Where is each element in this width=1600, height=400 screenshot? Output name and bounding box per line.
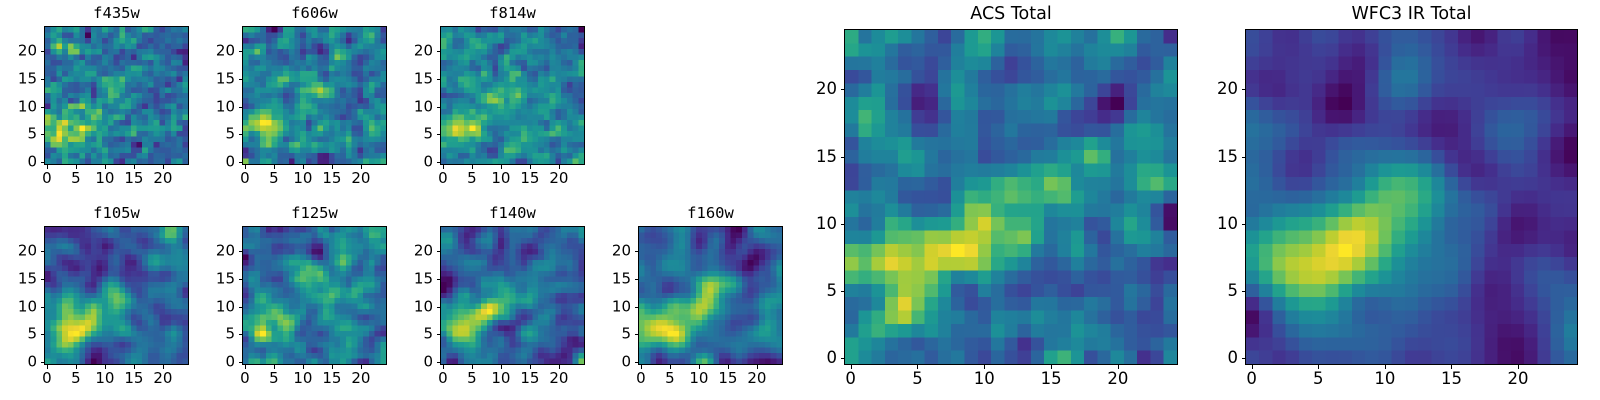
ytick-f435w-3 <box>41 79 45 80</box>
xticklabel-f140w-3: 15 <box>520 371 539 386</box>
xtick-f125w-4 <box>361 365 362 369</box>
yticklabel-f435w-3: 15 <box>18 71 37 86</box>
panel-f435w: f435w0510152005101520 <box>44 26 189 165</box>
xticklabel-f125w-3: 15 <box>322 371 341 386</box>
ytick-f140w-3 <box>437 279 441 280</box>
ytick-f140w-2 <box>437 307 441 308</box>
ytick-f814w-3 <box>437 79 441 80</box>
yticklabel-f125w-0: 0 <box>225 355 235 370</box>
yticklabel-f606w-1: 5 <box>225 127 235 142</box>
xtick-f140w-0 <box>443 365 444 369</box>
panel-title-f140w: f140w <box>440 206 585 222</box>
xticklabel-wfc3-ir-total-2: 10 <box>1374 371 1395 388</box>
yticklabel-f435w-1: 5 <box>27 127 37 142</box>
xticklabel-f140w-4: 20 <box>549 371 568 386</box>
xtick-acs-total-1 <box>917 365 918 369</box>
yticklabel-f814w-0: 0 <box>423 155 433 170</box>
xtick-f160w-0 <box>641 365 642 369</box>
axes-frame-wfc3-ir-total <box>1245 29 1578 365</box>
ytick-wfc3-ir-total-2 <box>1242 224 1246 225</box>
yticklabel-f140w-2: 10 <box>414 299 433 314</box>
yticklabel-f160w-4: 20 <box>612 244 631 259</box>
xtick-f160w-3 <box>728 365 729 369</box>
xticklabel-f435w-4: 20 <box>153 171 172 186</box>
xticklabel-f140w-1: 5 <box>467 371 477 386</box>
yticklabel-f814w-4: 20 <box>414 44 433 59</box>
xticklabel-f160w-3: 15 <box>718 371 737 386</box>
heatmap-image-wfc3-ir-total <box>1246 30 1577 364</box>
ytick-f105w-4 <box>41 251 45 252</box>
ytick-acs-total-4 <box>841 89 845 90</box>
panel-f140w: f140w0510152005101520 <box>440 226 585 365</box>
xtick-f435w-4 <box>163 165 164 169</box>
ytick-wfc3-ir-total-1 <box>1242 291 1246 292</box>
ytick-f435w-0 <box>41 162 45 163</box>
xtick-f160w-2 <box>699 365 700 369</box>
xticklabel-acs-total-4: 20 <box>1107 371 1128 388</box>
yticklabel-f105w-1: 5 <box>27 327 37 342</box>
ytick-f606w-0 <box>239 162 243 163</box>
xticklabel-f140w-2: 10 <box>491 371 510 386</box>
ytick-f160w-0 <box>635 362 639 363</box>
panel-f160w: f160w0510152005101520 <box>638 226 783 365</box>
ytick-f160w-1 <box>635 334 639 335</box>
axes-frame-f606w <box>242 26 387 165</box>
xticklabel-f435w-0: 0 <box>42 171 52 186</box>
xtick-f105w-2 <box>105 365 106 369</box>
ytick-f125w-3 <box>239 279 243 280</box>
yticklabel-f105w-3: 15 <box>18 271 37 286</box>
xticklabel-f160w-1: 5 <box>665 371 675 386</box>
xtick-f606w-1 <box>274 165 275 169</box>
yticklabel-wfc3-ir-total-1: 5 <box>1228 283 1239 300</box>
ytick-f814w-0 <box>437 162 441 163</box>
panel-f105w: f105w0510152005101520 <box>44 226 189 365</box>
figure-canvas: f435w0510152005101520f606w05101520051015… <box>0 0 1600 400</box>
axes-frame-f435w <box>44 26 189 165</box>
ytick-acs-total-2 <box>841 224 845 225</box>
xticklabel-f606w-0: 0 <box>240 171 250 186</box>
yticklabel-acs-total-3: 15 <box>816 148 837 165</box>
yticklabel-f140w-1: 5 <box>423 327 433 342</box>
xtick-f606w-4 <box>361 165 362 169</box>
axes-frame-f105w <box>44 226 189 365</box>
xtick-f105w-1 <box>76 365 77 369</box>
ytick-f125w-2 <box>239 307 243 308</box>
xticklabel-f105w-0: 0 <box>42 371 52 386</box>
yticklabel-acs-total-1: 5 <box>827 283 838 300</box>
yticklabel-f606w-4: 20 <box>216 44 235 59</box>
xticklabel-acs-total-1: 5 <box>912 371 923 388</box>
ytick-acs-total-3 <box>841 157 845 158</box>
yticklabel-acs-total-4: 20 <box>816 81 837 98</box>
xtick-f606w-2 <box>303 165 304 169</box>
yticklabel-f125w-1: 5 <box>225 327 235 342</box>
yticklabel-f140w-3: 15 <box>414 271 433 286</box>
yticklabel-acs-total-2: 10 <box>816 216 837 233</box>
xticklabel-f105w-2: 10 <box>95 371 114 386</box>
xticklabel-f435w-1: 5 <box>71 171 81 186</box>
heatmap-image-f125w <box>243 227 386 364</box>
panel-title-wfc3-ir-total: WFC3 IR Total <box>1245 6 1578 24</box>
xticklabel-f606w-1: 5 <box>269 171 279 186</box>
xticklabel-f160w-2: 10 <box>689 371 708 386</box>
yticklabel-f160w-0: 0 <box>621 355 631 370</box>
ytick-f125w-0 <box>239 362 243 363</box>
yticklabel-f105w-0: 0 <box>27 355 37 370</box>
panel-title-f125w: f125w <box>242 206 387 222</box>
xtick-f140w-4 <box>559 365 560 369</box>
yticklabel-f435w-4: 20 <box>18 44 37 59</box>
yticklabel-wfc3-ir-total-2: 10 <box>1217 216 1238 233</box>
xtick-f435w-3 <box>134 165 135 169</box>
yticklabel-acs-total-0: 0 <box>827 350 838 367</box>
yticklabel-f435w-0: 0 <box>27 155 37 170</box>
xticklabel-f606w-3: 15 <box>322 171 341 186</box>
xticklabel-f125w-4: 20 <box>351 371 370 386</box>
xtick-f105w-3 <box>134 365 135 369</box>
xtick-f140w-3 <box>530 365 531 369</box>
ytick-f606w-4 <box>239 51 243 52</box>
xticklabel-wfc3-ir-total-3: 15 <box>1441 371 1462 388</box>
xtick-wfc3-ir-total-0 <box>1252 365 1253 369</box>
xticklabel-f125w-1: 5 <box>269 371 279 386</box>
xtick-f814w-1 <box>472 165 473 169</box>
ytick-f606w-3 <box>239 79 243 80</box>
ytick-acs-total-0 <box>841 358 845 359</box>
xticklabel-wfc3-ir-total-0: 0 <box>1246 371 1257 388</box>
yticklabel-wfc3-ir-total-4: 20 <box>1217 81 1238 98</box>
xtick-f140w-2 <box>501 365 502 369</box>
xticklabel-acs-total-2: 10 <box>974 371 995 388</box>
xticklabel-f105w-1: 5 <box>71 371 81 386</box>
xtick-f435w-2 <box>105 165 106 169</box>
xtick-f125w-0 <box>245 365 246 369</box>
heatmap-image-f435w <box>45 27 188 164</box>
ytick-f125w-4 <box>239 251 243 252</box>
ytick-f435w-4 <box>41 51 45 52</box>
panel-title-f435w: f435w <box>44 6 189 22</box>
panel-title-acs-total: ACS Total <box>844 6 1178 24</box>
heatmap-image-f606w <box>243 27 386 164</box>
xtick-f105w-4 <box>163 365 164 369</box>
yticklabel-f140w-4: 20 <box>414 244 433 259</box>
xticklabel-acs-total-0: 0 <box>845 371 856 388</box>
xticklabel-f814w-4: 20 <box>549 171 568 186</box>
yticklabel-f606w-2: 10 <box>216 99 235 114</box>
yticklabel-f125w-4: 20 <box>216 244 235 259</box>
xtick-f125w-1 <box>274 365 275 369</box>
ytick-f606w-2 <box>239 107 243 108</box>
panel-f606w: f606w0510152005101520 <box>242 26 387 165</box>
xtick-f435w-0 <box>47 165 48 169</box>
panel-title-f160w: f160w <box>638 206 783 222</box>
yticklabel-f160w-2: 10 <box>612 299 631 314</box>
xticklabel-f435w-3: 15 <box>124 171 143 186</box>
ytick-wfc3-ir-total-3 <box>1242 157 1246 158</box>
ytick-f606w-1 <box>239 134 243 135</box>
ytick-f105w-2 <box>41 307 45 308</box>
ytick-f160w-4 <box>635 251 639 252</box>
yticklabel-wfc3-ir-total-3: 15 <box>1217 148 1238 165</box>
xtick-f814w-0 <box>443 165 444 169</box>
yticklabel-f606w-0: 0 <box>225 155 235 170</box>
panel-title-f105w: f105w <box>44 206 189 222</box>
xtick-f814w-3 <box>530 165 531 169</box>
xtick-f435w-1 <box>76 165 77 169</box>
xticklabel-wfc3-ir-total-1: 5 <box>1313 371 1324 388</box>
panel-wfc3-ir-total: WFC3 IR Total0510152005101520 <box>1245 29 1578 365</box>
heatmap-image-f160w <box>639 227 782 364</box>
yticklabel-f125w-2: 10 <box>216 299 235 314</box>
xtick-wfc3-ir-total-1 <box>1318 365 1319 369</box>
ytick-f105w-0 <box>41 362 45 363</box>
xticklabel-f160w-4: 20 <box>747 371 766 386</box>
xtick-f814w-4 <box>559 165 560 169</box>
xticklabel-f606w-2: 10 <box>293 171 312 186</box>
yticklabel-f814w-2: 10 <box>414 99 433 114</box>
xticklabel-f814w-1: 5 <box>467 171 477 186</box>
xticklabel-f140w-0: 0 <box>438 371 448 386</box>
ytick-f105w-1 <box>41 334 45 335</box>
axes-frame-acs-total <box>844 29 1178 365</box>
xticklabel-wfc3-ir-total-4: 20 <box>1508 371 1529 388</box>
ytick-f160w-2 <box>635 307 639 308</box>
xtick-f140w-1 <box>472 365 473 369</box>
xtick-wfc3-ir-total-3 <box>1451 365 1452 369</box>
heatmap-image-f814w <box>441 27 584 164</box>
ytick-f435w-2 <box>41 107 45 108</box>
xtick-wfc3-ir-total-2 <box>1385 365 1386 369</box>
ytick-wfc3-ir-total-4 <box>1242 89 1246 90</box>
ytick-f105w-3 <box>41 279 45 280</box>
ytick-acs-total-1 <box>841 291 845 292</box>
xtick-f105w-0 <box>47 365 48 369</box>
xticklabel-f105w-3: 15 <box>124 371 143 386</box>
yticklabel-f160w-1: 5 <box>621 327 631 342</box>
xtick-f160w-1 <box>670 365 671 369</box>
axes-frame-f814w <box>440 26 585 165</box>
xticklabel-f606w-4: 20 <box>351 171 370 186</box>
axes-frame-f125w <box>242 226 387 365</box>
xtick-acs-total-4 <box>1118 365 1119 369</box>
xticklabel-f125w-2: 10 <box>293 371 312 386</box>
yticklabel-f160w-3: 15 <box>612 271 631 286</box>
ytick-f140w-1 <box>437 334 441 335</box>
xtick-acs-total-0 <box>851 365 852 369</box>
xtick-f606w-3 <box>332 165 333 169</box>
yticklabel-f105w-2: 10 <box>18 299 37 314</box>
xtick-f606w-0 <box>245 165 246 169</box>
xticklabel-f160w-0: 0 <box>636 371 646 386</box>
ytick-f125w-1 <box>239 334 243 335</box>
xtick-wfc3-ir-total-4 <box>1518 365 1519 369</box>
xticklabel-f814w-3: 15 <box>520 171 539 186</box>
xticklabel-f814w-2: 10 <box>491 171 510 186</box>
ytick-f814w-4 <box>437 51 441 52</box>
yticklabel-f140w-0: 0 <box>423 355 433 370</box>
ytick-f160w-3 <box>635 279 639 280</box>
axes-frame-f140w <box>440 226 585 365</box>
ytick-wfc3-ir-total-0 <box>1242 358 1246 359</box>
heatmap-image-f140w <box>441 227 584 364</box>
axes-frame-f160w <box>638 226 783 365</box>
yticklabel-f606w-3: 15 <box>216 71 235 86</box>
yticklabel-f435w-2: 10 <box>18 99 37 114</box>
ytick-f140w-4 <box>437 251 441 252</box>
xtick-f125w-2 <box>303 365 304 369</box>
xticklabel-acs-total-3: 15 <box>1041 371 1062 388</box>
xtick-acs-total-3 <box>1051 365 1052 369</box>
panel-f125w: f125w0510152005101520 <box>242 226 387 365</box>
yticklabel-f105w-4: 20 <box>18 244 37 259</box>
ytick-f814w-2 <box>437 107 441 108</box>
xticklabel-f125w-0: 0 <box>240 371 250 386</box>
heatmap-image-acs-total <box>845 30 1177 364</box>
xticklabel-f435w-2: 10 <box>95 171 114 186</box>
panel-title-f606w: f606w <box>242 6 387 22</box>
xtick-f160w-4 <box>757 365 758 369</box>
xticklabel-f105w-4: 20 <box>153 371 172 386</box>
xtick-f125w-3 <box>332 365 333 369</box>
yticklabel-f814w-3: 15 <box>414 71 433 86</box>
heatmap-image-f105w <box>45 227 188 364</box>
ytick-f814w-1 <box>437 134 441 135</box>
xtick-f814w-2 <box>501 165 502 169</box>
xticklabel-f814w-0: 0 <box>438 171 448 186</box>
ytick-f435w-1 <box>41 134 45 135</box>
yticklabel-wfc3-ir-total-0: 0 <box>1228 350 1239 367</box>
panel-acs-total: ACS Total0510152005101520 <box>844 29 1178 365</box>
ytick-f140w-0 <box>437 362 441 363</box>
panel-f814w: f814w0510152005101520 <box>440 26 585 165</box>
xtick-acs-total-2 <box>984 365 985 369</box>
yticklabel-f125w-3: 15 <box>216 271 235 286</box>
yticklabel-f814w-1: 5 <box>423 127 433 142</box>
panel-title-f814w: f814w <box>440 6 585 22</box>
